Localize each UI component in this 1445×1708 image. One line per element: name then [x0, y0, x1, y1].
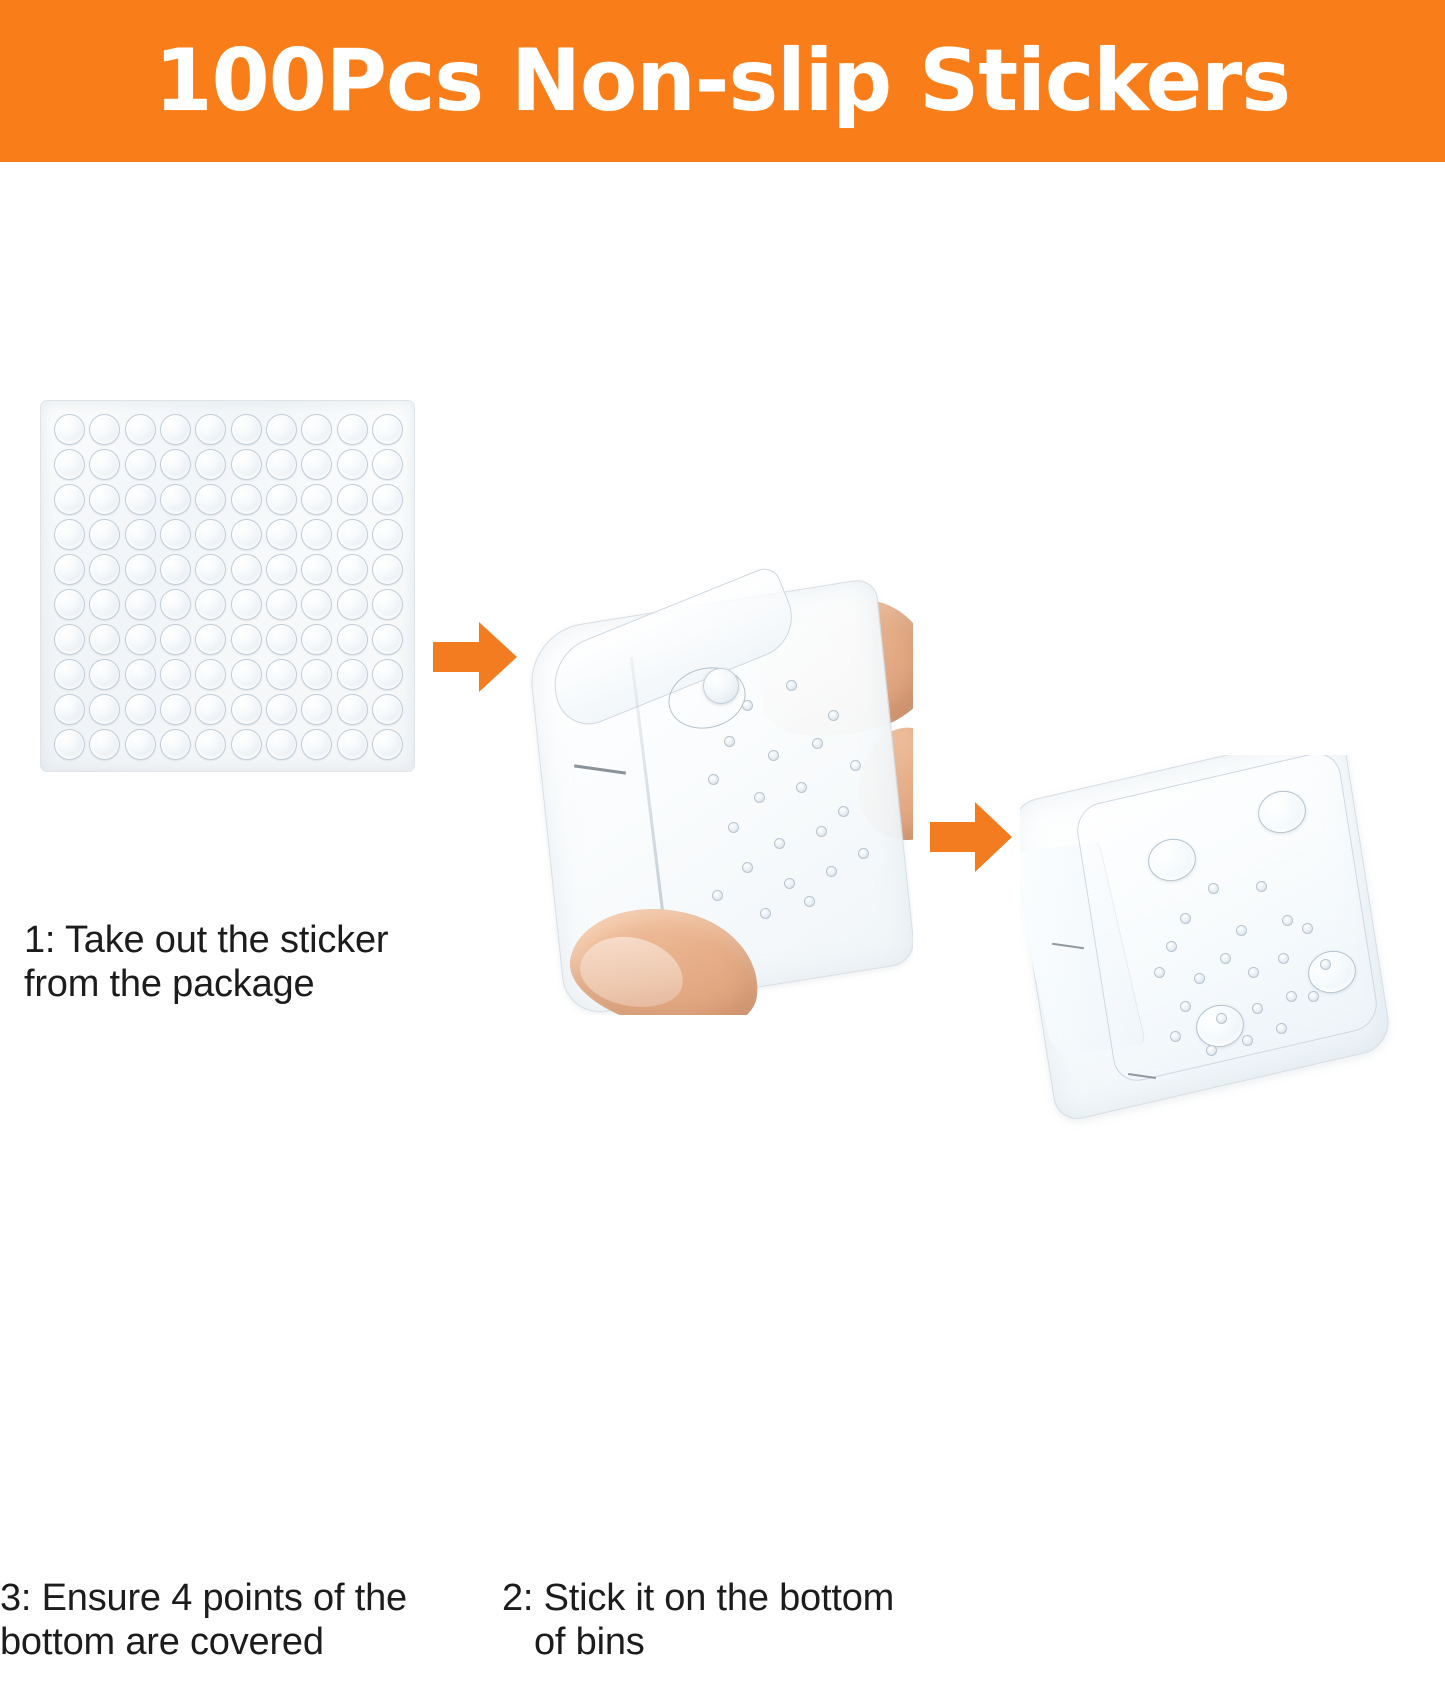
- sticker-bumper: [157, 656, 192, 691]
- sticker-bumper-grid: [51, 411, 404, 761]
- sticker-bumper: [122, 691, 157, 726]
- sticker-bumper: [369, 481, 404, 516]
- sticker-bumper: [122, 446, 157, 481]
- sticker-bumper: [122, 551, 157, 586]
- bin-moulding-dot: [784, 878, 795, 889]
- step-2-caption-line-1: 2: Stick it on the bottom: [502, 1577, 894, 1619]
- sticker-bumper: [298, 726, 333, 761]
- sticker-bumper: [51, 481, 86, 516]
- sticker-bumper: [51, 551, 86, 586]
- sticker-bumper: [86, 551, 121, 586]
- bin-moulding-dot: [1248, 967, 1259, 978]
- sticker-bumper: [298, 481, 333, 516]
- bin-moulding-dot: [1276, 1023, 1287, 1034]
- sticker-bumper: [298, 691, 333, 726]
- sticker-bumper: [192, 551, 227, 586]
- sticker-bumper: [122, 726, 157, 761]
- sticker-bumper: [122, 621, 157, 656]
- bin-moulding-dot: [1308, 991, 1319, 1002]
- sticker-bumper: [192, 516, 227, 551]
- sticker-bumper: [333, 411, 368, 446]
- arrow-step-2-to-3: [930, 800, 1012, 874]
- step-1-caption-line-2: from the package: [24, 963, 314, 1005]
- sticker-bumper: [86, 621, 121, 656]
- bin-moulding-dot: [742, 700, 753, 711]
- sticker-bumper: [192, 726, 227, 761]
- bin-moulding-dot: [774, 838, 785, 849]
- bin-moulding-dot: [786, 680, 797, 691]
- bin-moulding-dot: [1282, 915, 1293, 926]
- sticker-bumper: [263, 516, 298, 551]
- sticker-bumper: [227, 481, 262, 516]
- sticker-bumper: [369, 691, 404, 726]
- sticker-bumper: [86, 656, 121, 691]
- sticker-bumper: [333, 656, 368, 691]
- sticker-bumper: [51, 621, 86, 656]
- sticker-bumper: [157, 551, 192, 586]
- bin-moulding-dot: [850, 760, 861, 771]
- sticker-bumper: [192, 656, 227, 691]
- sticker-bumper: [122, 656, 157, 691]
- bin-moulding-dot: [838, 806, 849, 817]
- step-3-caption-line-1: 3: Ensure 4 points of the: [0, 1577, 407, 1619]
- sticker-bumper: [369, 411, 404, 446]
- sticker-bumper: [369, 656, 404, 691]
- bin-moulding-dot: [1256, 881, 1267, 892]
- bin-moulding-dot: [760, 908, 771, 919]
- bin-moulding-dot: [1166, 941, 1177, 952]
- bin-moulding-dot: [768, 750, 779, 761]
- step-2-caption: 2: Stick it on the bottom of bins: [502, 1532, 894, 1708]
- bin-moulding-dot: [1208, 883, 1219, 894]
- sticker-bumper: [298, 411, 333, 446]
- sticker-bumper: [333, 586, 368, 621]
- sticker-bumper: [192, 411, 227, 446]
- bin-moulding-dot: [858, 848, 869, 859]
- sticker-bumper: [157, 621, 192, 656]
- sticker-bumper: [157, 691, 192, 726]
- bin-moulding-dot: [1236, 925, 1247, 936]
- sticker-bumper: [369, 551, 404, 586]
- sticker-bumper: [369, 446, 404, 481]
- sticker-bumper: [157, 586, 192, 621]
- sticker-bumper: [263, 621, 298, 656]
- step-3-caption: 3: Ensure 4 points of the bottom are cov…: [0, 1532, 407, 1664]
- bin-moulding-dot: [1154, 967, 1165, 978]
- bin-moulding-dot: [1286, 991, 1297, 1002]
- sticker-bumper: [263, 586, 298, 621]
- header-banner: 100Pcs Non-slip Stickers: [0, 0, 1445, 162]
- arrow-step-1-to-2: [433, 620, 517, 694]
- applied-bumper: [703, 668, 739, 704]
- sticker-bumper: [157, 411, 192, 446]
- sticker-bumper: [369, 516, 404, 551]
- sticker-bumper: [263, 656, 298, 691]
- flipped-bin-photo: [1020, 755, 1400, 1130]
- bin-moulding-dot: [742, 862, 753, 873]
- sticker-bumper: [263, 551, 298, 586]
- bin-moulding-dot: [826, 866, 837, 877]
- bin-moulding-dot: [1278, 953, 1289, 964]
- bin-moulding-dot: [1320, 959, 1331, 970]
- sticker-bumper: [51, 656, 86, 691]
- sticker-bumper: [51, 446, 86, 481]
- bin-moulding-dot: [804, 896, 815, 907]
- step-1-caption: 1: Take out the sticker from the package: [24, 874, 494, 1006]
- sticker-bumper: [227, 656, 262, 691]
- sticker-bumper: [192, 446, 227, 481]
- bin-moulding-dot: [728, 822, 739, 833]
- page-title: 100Pcs Non-slip Stickers: [155, 38, 1290, 124]
- sticker-bumper: [263, 726, 298, 761]
- bin-moulding-dot: [796, 782, 807, 793]
- sticker-bumper: [227, 551, 262, 586]
- sticker-bumper: [227, 726, 262, 761]
- bin-moulding-dot: [816, 826, 827, 837]
- sticker-bumper: [192, 481, 227, 516]
- bin-moulding-dot: [712, 890, 723, 901]
- sticker-bumper: [333, 621, 368, 656]
- bin-moulding-dot: [708, 774, 719, 785]
- sticker-bumper: [122, 516, 157, 551]
- sticker-sheet-photo: [40, 400, 415, 772]
- bin-moulding-dot: [1220, 953, 1231, 964]
- sticker-bumper: [192, 691, 227, 726]
- sticker-bumper: [333, 481, 368, 516]
- sticker-bumper: [333, 726, 368, 761]
- sticker-bumper: [298, 586, 333, 621]
- sticker-bumper: [86, 726, 121, 761]
- sticker-bumper: [263, 446, 298, 481]
- sticker-bumper: [227, 411, 262, 446]
- sticker-bumper: [51, 691, 86, 726]
- sticker-bumper: [122, 481, 157, 516]
- bin-moulding-dot: [1216, 1013, 1227, 1024]
- sticker-bumper: [333, 551, 368, 586]
- sticker-bumper: [333, 691, 368, 726]
- bin-moulding-dot: [724, 736, 735, 747]
- bin-moulding-dot: [1206, 1045, 1217, 1056]
- sticker-bumper: [122, 411, 157, 446]
- sticker-bumper: [263, 691, 298, 726]
- sticker-bumper: [192, 621, 227, 656]
- sticker-bumper: [227, 446, 262, 481]
- sticker-bumper: [369, 586, 404, 621]
- sticker-bumper: [86, 446, 121, 481]
- sticker-bumper: [369, 621, 404, 656]
- sticker-bumper: [86, 691, 121, 726]
- sticker-bumper: [51, 516, 86, 551]
- sticker-bumper: [86, 586, 121, 621]
- sticker-bumper: [333, 516, 368, 551]
- hand-bin-photo: [528, 560, 913, 1015]
- bin-moulding-dot: [1180, 913, 1191, 924]
- sticker-bumper: [157, 446, 192, 481]
- sticker-bumper: [263, 481, 298, 516]
- sticker-bumper: [157, 481, 192, 516]
- bin-moulding-dot: [812, 738, 823, 749]
- sticker-bumper: [298, 446, 333, 481]
- sticker-bumper: [51, 411, 86, 446]
- sticker-bumper: [157, 516, 192, 551]
- sticker-bumper: [298, 551, 333, 586]
- sticker-bumper: [227, 516, 262, 551]
- sticker-bumper: [122, 586, 157, 621]
- bin-moulding-dot: [828, 710, 839, 721]
- bin-moulding-dot: [1180, 1001, 1191, 1012]
- bin-moulding-dot: [1170, 1031, 1181, 1042]
- sticker-bumper: [298, 516, 333, 551]
- sticker-bumper: [51, 586, 86, 621]
- bin-moulding-dot: [1242, 1035, 1253, 1046]
- bin-moulding-dot: [754, 792, 765, 803]
- bin-moulding-dot: [1194, 973, 1205, 984]
- sticker-bumper: [86, 411, 121, 446]
- sticker-bumper: [227, 691, 262, 726]
- sticker-bumper: [298, 656, 333, 691]
- sticker-bumper: [86, 481, 121, 516]
- bin-moulding-dot: [1252, 1003, 1263, 1014]
- step-3-caption-line-2: bottom are covered: [0, 1621, 324, 1663]
- sticker-bumper: [51, 726, 86, 761]
- step-1-caption-line-1: 1: Take out the sticker: [24, 919, 388, 961]
- sticker-bumper: [263, 411, 298, 446]
- step-panel-3-frame: [0, 1018, 408, 1532]
- bin-moulding-dot: [1302, 923, 1313, 934]
- sticker-bumper: [86, 516, 121, 551]
- sticker-bumper: [227, 621, 262, 656]
- sticker-bumper: [298, 621, 333, 656]
- sticker-bumper: [157, 726, 192, 761]
- sticker-bumper: [369, 726, 404, 761]
- sticker-bumper: [333, 446, 368, 481]
- sticker-bumper: [192, 586, 227, 621]
- step-2-caption-line-2: of bins: [502, 1620, 894, 1664]
- sticker-bumper: [227, 586, 262, 621]
